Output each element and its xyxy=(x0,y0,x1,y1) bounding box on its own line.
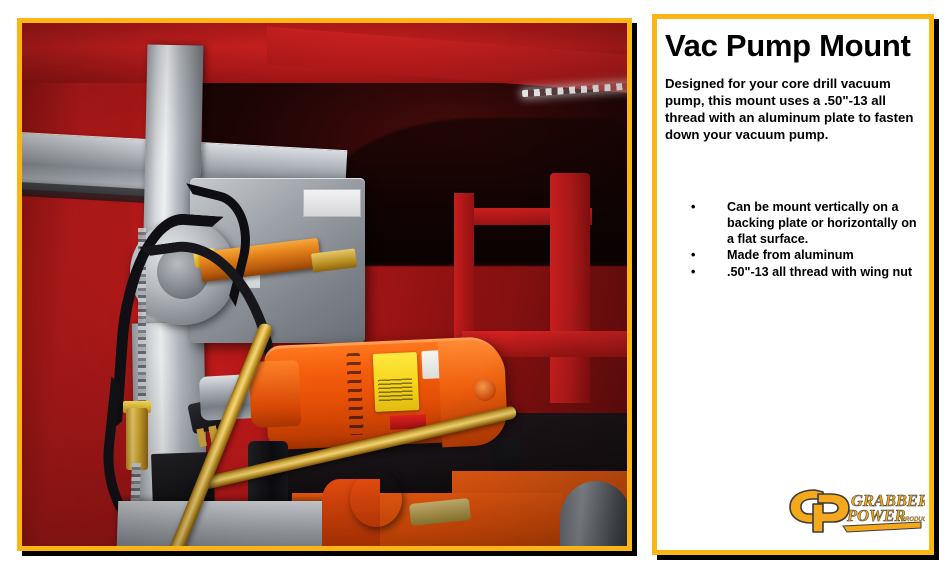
product-info-panel: Vac Pump Mount Designed for your core dr… xyxy=(652,14,934,555)
pump-motor-nose xyxy=(249,360,302,428)
bullet-icon: • xyxy=(691,265,695,281)
list-item: • Made from aluminum xyxy=(665,248,921,264)
brass-cross-handle-hub xyxy=(350,471,402,527)
feature-text: Can be mount vertically on a backing pla… xyxy=(727,200,917,245)
page-title: Vac Pump Mount xyxy=(665,29,921,62)
pump-warning-label xyxy=(373,352,419,412)
list-item: • Can be mount vertically on a backing p… xyxy=(665,200,921,247)
feature-text: .50"-13 all thread with wing nut xyxy=(727,265,912,279)
brass-quick-coupler xyxy=(126,408,148,470)
list-item: • .50"-13 all thread with wing nut xyxy=(665,265,921,281)
spec-sheet-page: Vac Pump Mount Designed for your core dr… xyxy=(0,0,950,580)
aluminum-bottom-plate xyxy=(116,501,339,546)
logo-wordmark: GRABBER POWER PRODUCTS xyxy=(846,491,925,525)
housing-spec-label xyxy=(303,189,361,217)
bullet-icon: • xyxy=(691,200,695,216)
product-description: Designed for your core drill vacuum pump… xyxy=(665,76,921,144)
grabber-power-products-logo[interactable]: GRABBER POWER PRODUCTS xyxy=(785,482,925,538)
pump-motor-cap-port xyxy=(474,379,496,401)
logo-line-power: POWER xyxy=(846,506,906,525)
feature-list: • Can be mount vertically on a backing p… xyxy=(665,200,921,281)
feature-text: Made from aluminum xyxy=(727,248,854,262)
rig-right-post xyxy=(550,173,590,403)
product-photo xyxy=(22,23,627,546)
rig-inner-post xyxy=(454,193,474,343)
product-photo-panel[interactable] xyxy=(17,18,632,551)
bullet-icon: • xyxy=(691,248,695,264)
gp-monogram-icon xyxy=(790,490,849,532)
